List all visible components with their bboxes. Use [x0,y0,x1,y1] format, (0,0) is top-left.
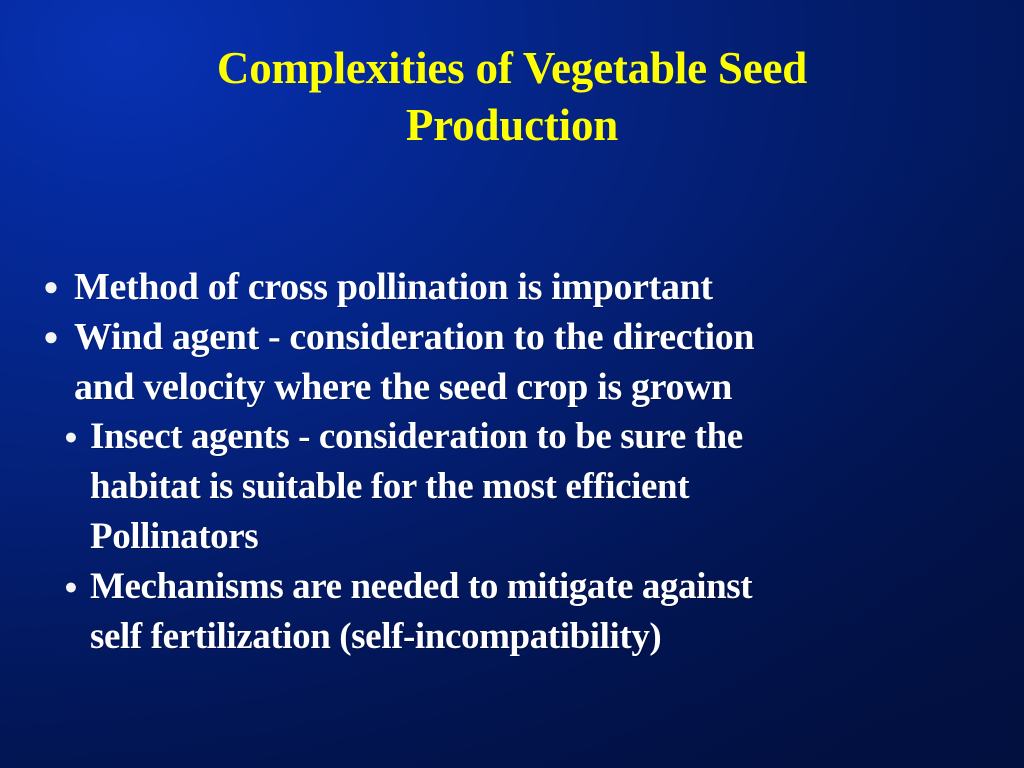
bullet-line: Insect agents - consideration to be sure… [90,416,743,457]
bullet-text: Insect agents - consideration to be sure… [90,412,1024,562]
bullet-line: and velocity where the seed crop is grow… [74,366,732,408]
bullet-line: Wind agent - consideration to the direct… [74,316,754,358]
slide-content: Complexities of Vegetable Seed Productio… [0,0,1024,768]
title-line-2: Production [72,97,952,154]
bullet-point-icon: ● [52,562,90,612]
title-line-1: Complexities of Vegetable Seed [72,40,952,97]
bullet-text: Method of cross pollination is important [74,262,1024,312]
bullet-text: Mechanisms are needed to mitigate agains… [90,562,1024,662]
bullet-line: Pollinators [90,516,258,557]
bullet-item: ● Insect agents - consideration to be su… [0,412,1024,562]
bullet-line: Mechanisms are needed to mitigate agains… [90,566,752,607]
bullet-list: ● Method of cross pollination is importa… [0,262,1024,662]
bullet-line: self fertilization (self-incompatibility… [90,616,661,657]
bullet-item: ● Wind agent - consideration to the dire… [0,312,1024,412]
bullet-point-icon: ● [28,312,74,362]
slide-title: Complexities of Vegetable Seed Productio… [72,40,952,154]
bullet-point-icon: ● [52,412,90,462]
bullet-text: Wind agent - consideration to the direct… [74,312,1024,412]
bullet-line: habitat is suitable for the most efficie… [90,466,689,507]
bullet-point-icon: ● [28,262,74,312]
bullet-item: ● Mechanisms are needed to mitigate agai… [0,562,1024,662]
bullet-item: ● Method of cross pollination is importa… [0,262,1024,312]
presentation-slide: Complexities of Vegetable Seed Productio… [0,0,1024,768]
bullet-line: Method of cross pollination is important [74,266,713,308]
